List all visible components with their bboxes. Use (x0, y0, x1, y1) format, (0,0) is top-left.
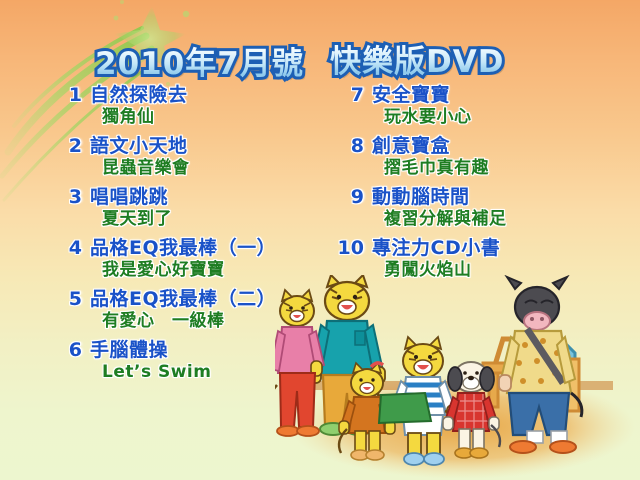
menu-item-texts: 創意寶盒 摺毛巾真有趣 (372, 135, 489, 179)
menu-item-title: 語文小天地 (90, 135, 190, 157)
tiger-family-illustration (275, 275, 640, 480)
menu-item-texts: 手腦體操 Let’s Swim (90, 339, 211, 383)
menu-item-texts: 品格EQ我最棒（一） 我是愛心好寶寶 (90, 237, 276, 281)
menu-item[interactable]: 2 語文小天地 昆蟲音樂會 (52, 135, 332, 186)
menu-item-texts: 品格EQ我最棒（二） 有愛心 一級棒 (90, 288, 276, 332)
menu-item-title: 品格EQ我最棒（二） (90, 288, 276, 310)
menu-item-title: 創意寶盒 (372, 135, 489, 157)
menu-item-title: 品格EQ我最棒（一） (90, 237, 276, 259)
green-bag (379, 393, 431, 423)
menu-item-texts: 安全寶寶 玩水要小心 (372, 84, 472, 128)
menu-item-subtitle: Let’s Swim (102, 362, 211, 383)
menu-item-number: 10 (330, 237, 364, 259)
left-title-fill: 2010年7月號 (95, 38, 304, 83)
menu-item-title: 安全寶寶 (372, 84, 472, 106)
menu-item-subtitle: 夏天到了 (102, 209, 172, 230)
menu-item-subtitle: 我是愛心好寶寶 (102, 260, 276, 281)
right-title-fill: 快樂版DVD (330, 36, 504, 81)
menu-item-number: 2 (52, 135, 82, 157)
menu-item-number: 3 (52, 186, 82, 208)
menu-item-number: 6 (52, 339, 82, 361)
menu-column-right: 7 安全寶寶 玩水要小心 8 創意寶盒 摺毛巾真有趣 9 動動腦時間 複習分解與… (330, 84, 620, 288)
menu-item[interactable]: 1 自然探險去 獨角仙 (52, 84, 332, 135)
menu-item-number: 1 (52, 84, 82, 106)
menu-item-texts: 動動腦時間 複習分解與補足 (372, 186, 507, 230)
menu-item-texts: 唱唱跳跳 夏天到了 (90, 186, 172, 230)
menu-item-subtitle: 有愛心 一級棒 (102, 311, 276, 332)
menu-item-title: 動動腦時間 (372, 186, 507, 208)
menu-item-title: 唱唱跳跳 (90, 186, 172, 208)
menu-item-subtitle: 玩水要小心 (384, 107, 472, 128)
menu-item[interactable]: 3 唱唱跳跳 夏天到了 (52, 186, 332, 237)
menu-item-subtitle: 摺毛巾真有趣 (384, 158, 489, 179)
menu-item-subtitle: 獨角仙 (102, 107, 188, 128)
menu-item[interactable]: 8 創意寶盒 摺毛巾真有趣 (330, 135, 620, 186)
menu-item-title: 手腦體操 (90, 339, 211, 361)
menu-item-number: 8 (330, 135, 364, 157)
menu-item-texts: 自然探險去 獨角仙 (90, 84, 188, 128)
menu-item-subtitle: 複習分解與補足 (384, 209, 507, 230)
menu-item-title: 自然探險去 (90, 84, 188, 106)
menu-item-number: 9 (330, 186, 364, 208)
menu-item[interactable]: 9 動動腦時間 複習分解與補足 (330, 186, 620, 237)
menu-item-number: 5 (52, 288, 82, 310)
menu-item-title: 專注力CD小書 (372, 237, 500, 259)
menu-item-number: 7 (330, 84, 364, 106)
menu-item-subtitle: 昆蟲音樂會 (102, 158, 190, 179)
dvd-menu-screen: 2010年7月號 2010年7月號 快樂版DVD 快樂版DVD 1 自然探險去 … (0, 0, 640, 480)
menu-item-texts: 語文小天地 昆蟲音樂會 (90, 135, 190, 179)
menu-item[interactable]: 7 安全寶寶 玩水要小心 (330, 84, 620, 135)
menu-item-number: 4 (52, 237, 82, 259)
